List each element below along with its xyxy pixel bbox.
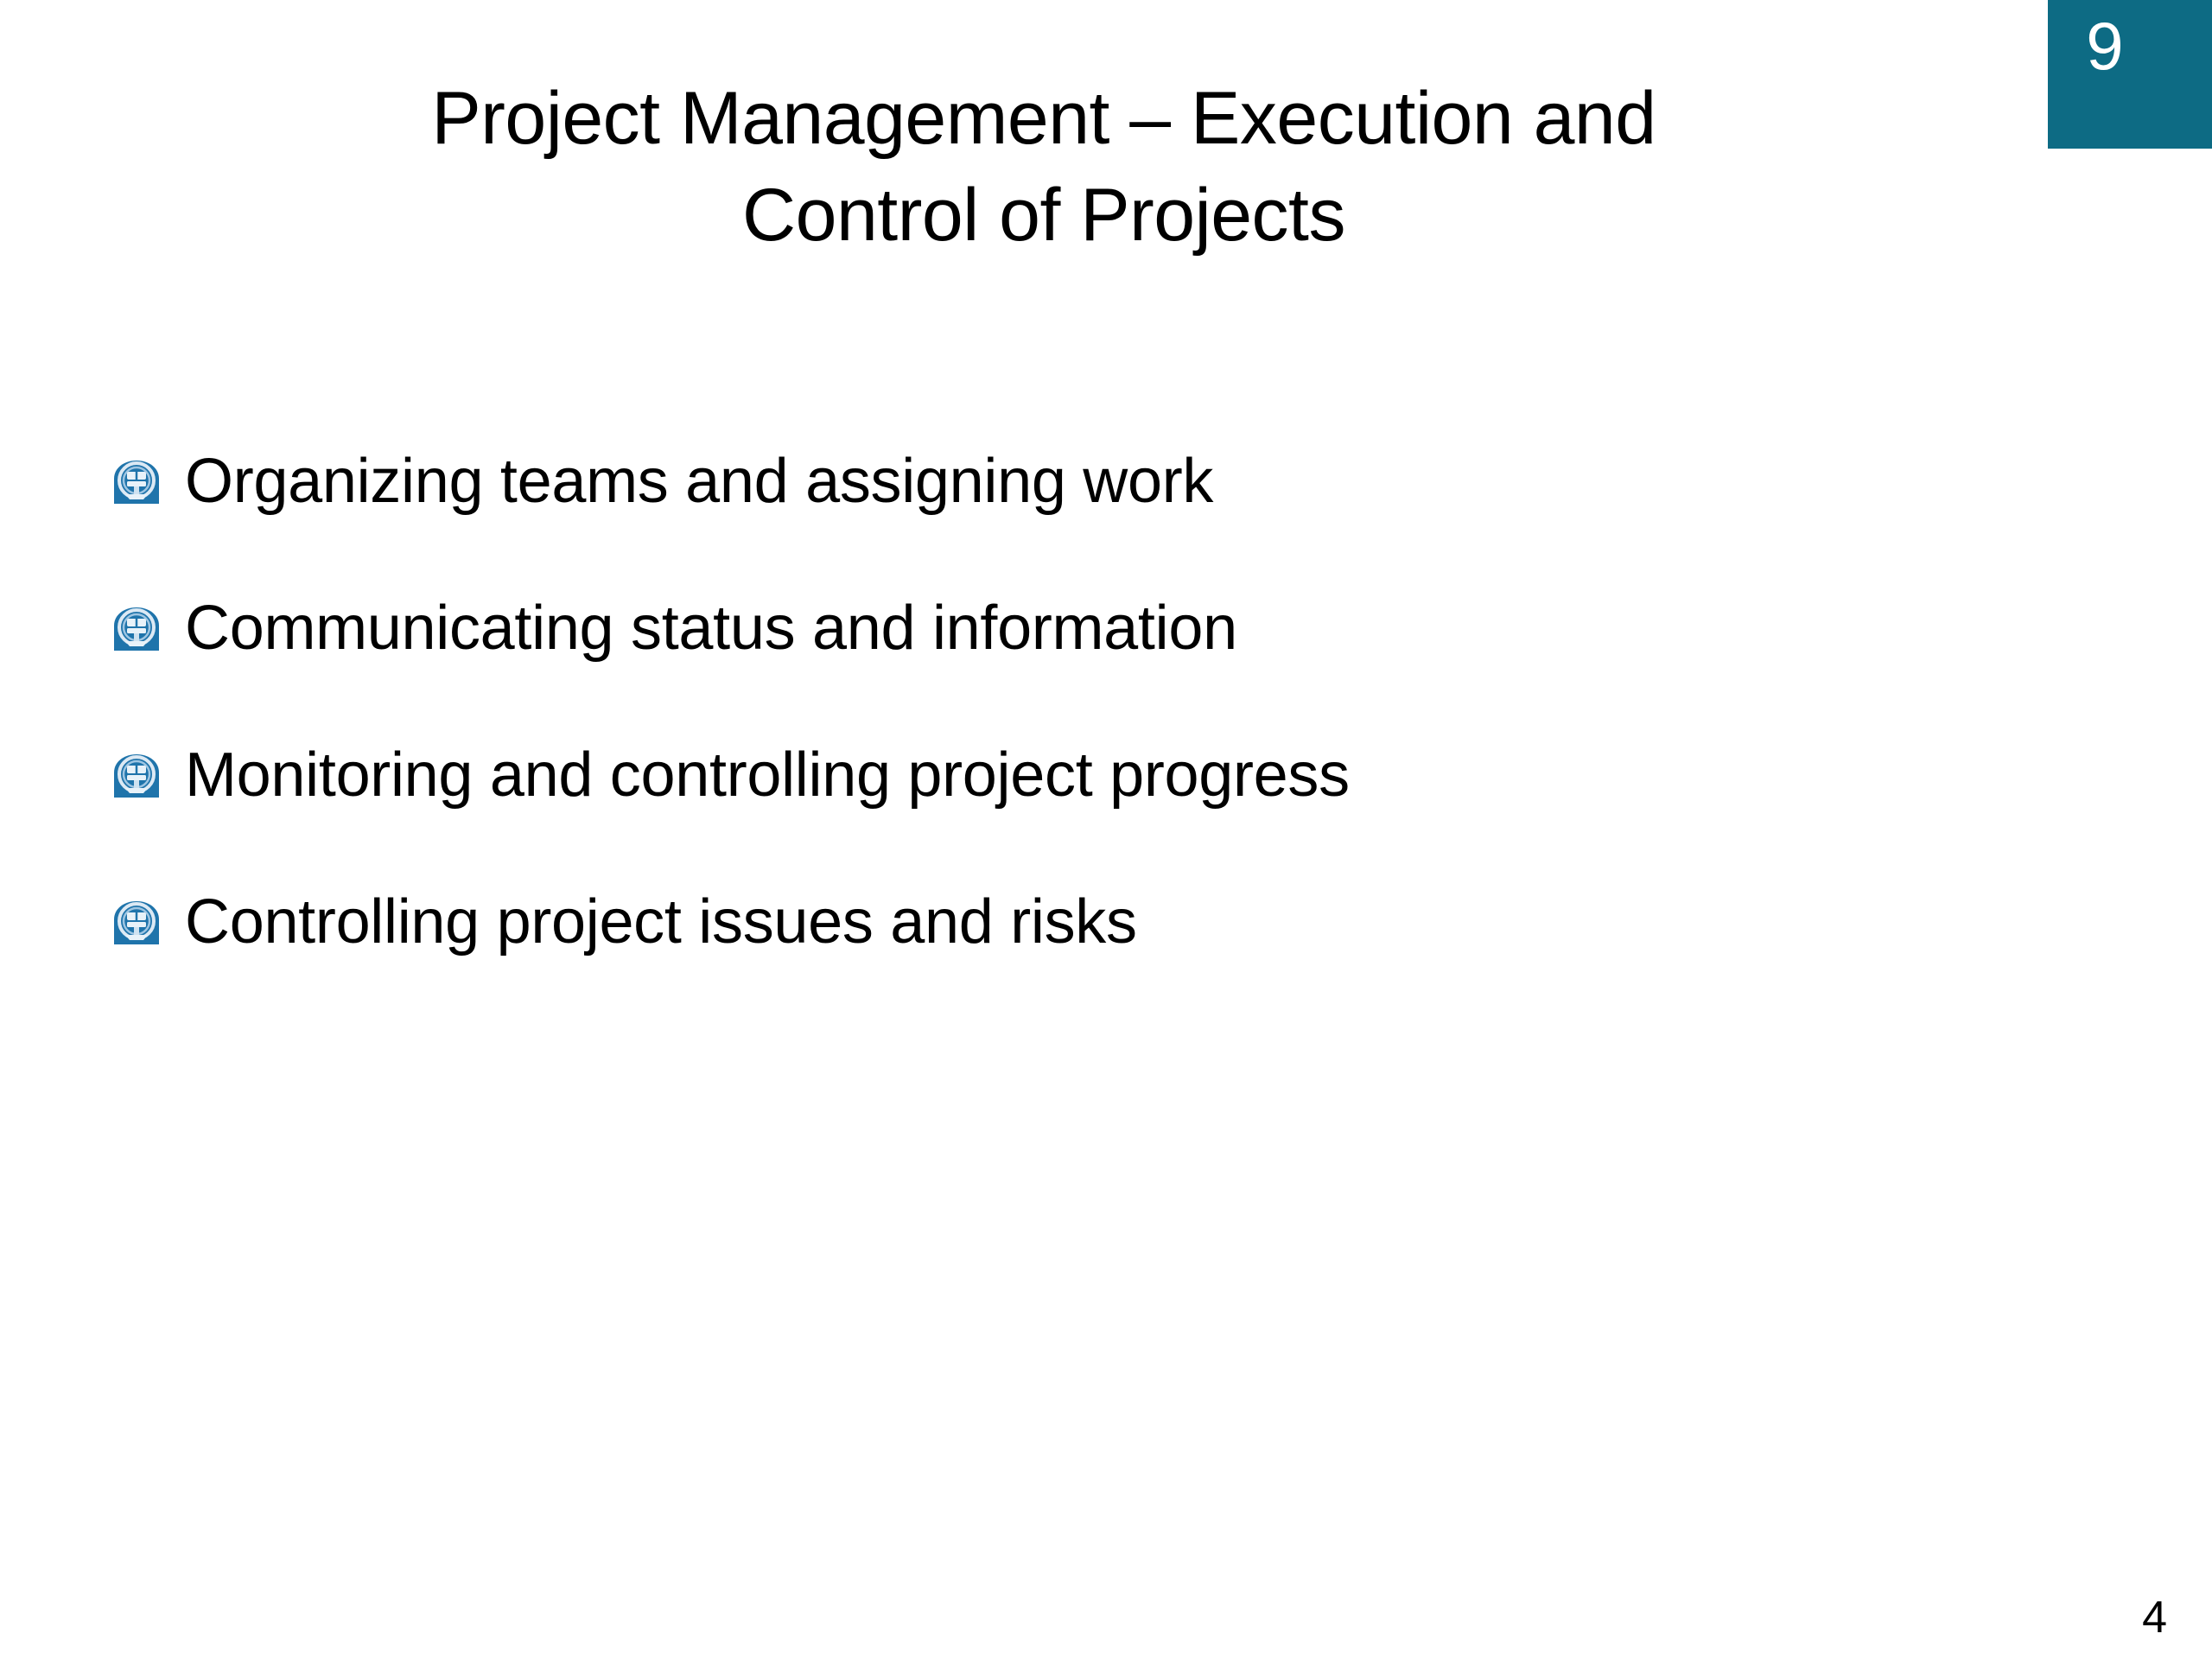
slide-title-line-2: Control of Projects — [128, 168, 1960, 264]
bullet-list: Organizing teams and assigning work Comm… — [111, 439, 2012, 1027]
page-number: 4 — [2142, 1595, 2167, 1640]
list-item-label: Communicating status and information — [185, 596, 1237, 662]
slide-canvas: 9 Project Management – Execution and Con… — [0, 0, 2212, 1659]
blue-person-badge-icon — [111, 603, 162, 655]
blue-person-badge-icon — [111, 456, 162, 508]
list-item-label: Controlling project issues and risks — [185, 890, 1137, 956]
slide-title: Project Management – Execution and Contr… — [128, 71, 1960, 264]
blue-person-badge-icon — [111, 750, 162, 802]
blue-person-badge-icon — [111, 897, 162, 949]
list-item: Organizing teams and assigning work — [111, 439, 2012, 525]
list-item: Monitoring and controlling project progr… — [111, 733, 2012, 819]
list-item-label: Monitoring and controlling project progr… — [185, 743, 1350, 809]
slide-number-badge-value: 9 — [2048, 12, 2162, 79]
list-item: Communicating status and information — [111, 586, 2012, 672]
slide-title-line-1: Project Management – Execution and — [128, 71, 1960, 168]
slide-number-badge: 9 — [2048, 0, 2212, 149]
list-item-label: Organizing teams and assigning work — [185, 449, 1213, 515]
list-item: Controlling project issues and risks — [111, 880, 2012, 966]
